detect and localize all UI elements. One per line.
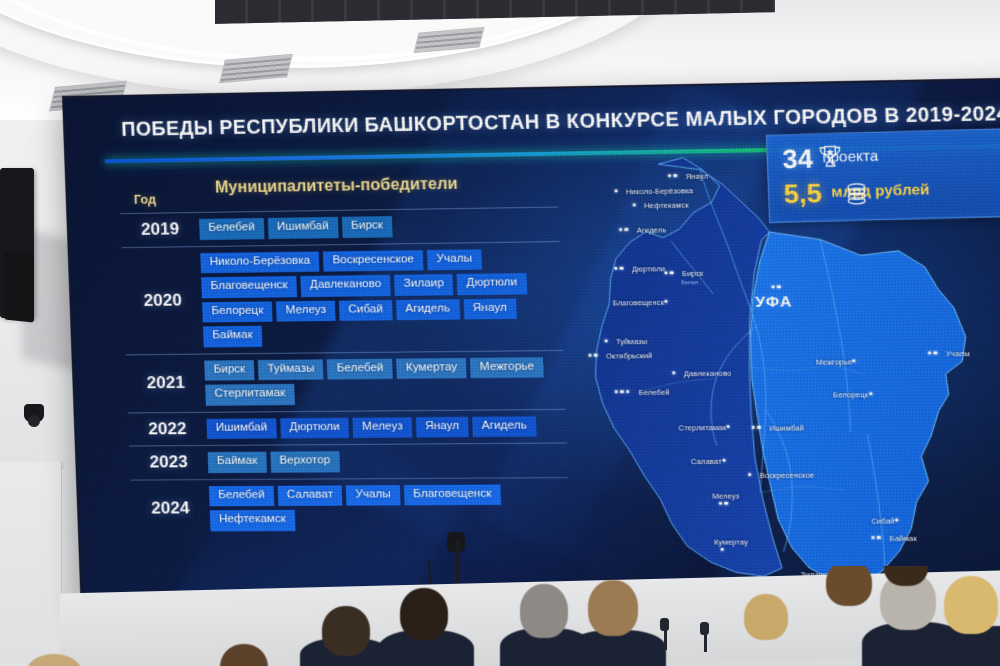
person-head — [944, 576, 998, 634]
map-city-dot — [620, 390, 624, 393]
map-city-dots — [604, 339, 608, 342]
winner-chip-group: БаймакВерхотор — [208, 450, 568, 473]
map-city-dots — [928, 351, 937, 355]
winner-chip: Нефтекамск — [210, 510, 296, 531]
map-city-dot — [871, 536, 875, 539]
winner-chip: Воскресенское — [323, 250, 424, 272]
winner-chip: Мелеуз — [276, 300, 335, 321]
map-city-dots — [664, 300, 668, 304]
winner-chip: Межгорье — [470, 357, 544, 379]
map-city-dot — [664, 271, 668, 275]
map-city-dot — [604, 339, 608, 342]
map-city-dots — [752, 426, 761, 430]
map-city-dot — [726, 425, 730, 428]
winner-chip: Дюртюли — [280, 417, 349, 438]
map-city-dot — [777, 285, 781, 289]
map-city-label: Баймак — [889, 534, 917, 543]
map-city-dot — [670, 271, 674, 275]
winner-chip: Агидель — [396, 299, 460, 320]
map-city-dots — [748, 473, 752, 476]
map-city-dot — [895, 518, 899, 522]
map-city-dot — [588, 354, 592, 357]
map-city-dots — [721, 548, 725, 551]
map-city-dots — [619, 228, 628, 232]
person-head — [744, 594, 788, 640]
winner-chip: Дюртюли — [457, 273, 527, 295]
map-city-dot — [633, 203, 637, 207]
map-city-dots — [722, 459, 726, 462]
map-city-dots — [614, 189, 618, 193]
column-header-municipalities: Муниципалитеты-победители — [215, 176, 458, 198]
winner-chip-group: Николо-БерёзовкаВоскресенскоеУчалыБлагов… — [200, 248, 563, 347]
map-city-dots — [588, 354, 597, 358]
map-city-dots — [871, 536, 880, 540]
winner-chip-group: БелебейСалаватУчалыБлаговещенскНефтекамс… — [209, 484, 570, 531]
person-head — [588, 580, 638, 636]
winner-chip: Агидель — [472, 416, 536, 437]
person-head — [520, 584, 568, 638]
winner-chip: Белорецк — [202, 301, 273, 322]
map-city-dot — [724, 502, 728, 505]
winner-chip: Янаул — [416, 416, 469, 437]
map-river-label: Белая — [681, 280, 698, 286]
map-city-dot — [757, 426, 761, 429]
winner-chip: Бирск — [204, 360, 254, 381]
row-year: 2019 — [121, 219, 200, 240]
winner-chip: Николо-Берёзовка — [200, 251, 319, 273]
map-city-dots — [668, 174, 677, 178]
led-presentation-screen[interactable]: ПОБЕДЫ РЕСПУБЛИКИ БАШКОРТОСТАН В КОНКУРС… — [62, 77, 1000, 606]
map-city-label: Кумертау — [714, 537, 748, 546]
map-city-dot — [934, 351, 938, 355]
map-city-dot — [771, 285, 775, 289]
winner-chip: Сибай — [339, 300, 393, 321]
map-city-dot — [664, 300, 668, 304]
map-city-dot — [721, 548, 725, 551]
map-city-label: Воскресенское — [760, 471, 815, 481]
row-year: 2024 — [131, 498, 210, 518]
map-city-label: Ишимбай — [769, 423, 804, 432]
map-city-dots — [869, 392, 873, 396]
map-city-label: Янаул — [686, 172, 709, 182]
winner-chip: Бирск — [342, 216, 393, 237]
winners-table: Год Муниципалитеты-победители 2019Белебе… — [119, 172, 570, 537]
column-header-year: Год — [134, 193, 156, 207]
map-capital-label: УФА — [755, 293, 793, 311]
table-row: 2023БаймакВерхотор — [129, 442, 568, 479]
map-city-label: Сибай — [871, 516, 895, 525]
map-city-dots — [719, 502, 728, 506]
map-city-dot — [614, 267, 618, 271]
map-city-dots — [726, 425, 730, 428]
map-city-dot — [674, 174, 678, 178]
map-city-dot — [614, 189, 618, 193]
desk-microphone-stem — [664, 628, 667, 650]
map-city-label: Давлеканово — [684, 369, 732, 379]
map-city-label: Дюртюли — [632, 264, 666, 274]
line-array-speaker-lower — [4, 251, 34, 322]
winner-chip: Баймак — [203, 326, 262, 347]
map-city-dot — [672, 371, 676, 374]
table-row: 2020Николо-БерёзовкаВоскресенскоеУчалыБл… — [122, 241, 564, 354]
map-city-label: Нефтекамск — [644, 200, 689, 210]
winner-chip: Баймак — [208, 452, 267, 473]
winner-chip: Зилаир — [394, 274, 453, 295]
map-city-dot — [877, 536, 881, 540]
bashkortostan-map: ЯнаулНиколо-БерёзовкаНефтекамскАгидельДю… — [543, 133, 1000, 589]
map-city-label: Николо-Берёзовка — [626, 186, 694, 196]
map-city-label: Салават — [691, 457, 722, 466]
security-camera-icon — [24, 404, 44, 422]
winner-chip-group: ИшимбайДюртюлиМелеузЯнаулАгидель — [206, 416, 566, 439]
winner-chip: Кумертау — [396, 357, 466, 378]
map-city-dots — [771, 285, 780, 289]
presentation-room-photo: ПОБЕДЫ РЕСПУБЛИКИ БАШКОРТОСТАН В КОНКУРС… — [0, 0, 1000, 666]
map-city-dot — [928, 351, 932, 355]
winner-chip-group: БирскТуймазыБелебейКумертауМежгорьеСтерл… — [204, 357, 565, 406]
stat-money-row: 5,5 млрд рублей — [783, 177, 930, 207]
trophy-icon — [782, 143, 879, 172]
winner-chip: Ишимбай — [206, 418, 276, 439]
table-body: 2019БелебейИшимбайБирск2020Николо-Берёзо… — [120, 207, 570, 538]
winner-chip: Белебей — [209, 485, 274, 506]
row-year: 2020 — [123, 290, 202, 311]
row-year: 2022 — [128, 419, 207, 440]
winner-chip: Белебей — [199, 218, 264, 240]
coins-icon — [783, 177, 930, 207]
map-city-label: Туймазы — [616, 337, 648, 347]
map-city-dot — [626, 390, 630, 393]
map-city-dots — [615, 390, 630, 394]
map-city-label: Агидель — [637, 225, 667, 235]
winner-chip: Туймазы — [258, 359, 324, 380]
winner-chip: Ишимбай — [268, 217, 339, 239]
map-city-label: Стерлитамак — [678, 423, 726, 433]
stats-badge: 34 проекта 5,5 млрд рублей — [766, 128, 1000, 223]
map-city-dot — [668, 174, 672, 178]
winner-chip: Учалы — [427, 249, 482, 270]
winner-chip: Благовещенск — [201, 276, 297, 298]
map-city-label: Мелеуз — [712, 491, 739, 500]
map-city-dots — [614, 267, 623, 271]
desk-microphone-stem — [704, 632, 707, 652]
winner-chip-group: БелебейИшимбайБирск — [199, 214, 559, 240]
map-city-dot — [619, 228, 623, 232]
winner-chip: Мелеуз — [353, 417, 413, 438]
winner-chip: Стерлитамак — [205, 384, 295, 405]
map-city-dots — [664, 271, 673, 275]
winner-chip: Учалы — [346, 485, 401, 506]
map-region-east — [746, 229, 975, 584]
map-city-label: Белорецк — [833, 390, 868, 400]
row-year: 2021 — [126, 373, 205, 394]
row-year: 2023 — [129, 452, 208, 473]
map-city-dot — [869, 392, 873, 396]
map-city-dot — [719, 502, 723, 505]
audience — [0, 566, 1000, 666]
map-city-dot — [748, 473, 752, 476]
winner-chip: Янаул — [463, 298, 516, 319]
map-city-label: Октябрьский — [606, 351, 652, 361]
slide-canvas: ПОБЕДЫ РЕСПУБЛИКИ БАШКОРТОСТАН В КОНКУРС… — [62, 77, 1000, 606]
map-city-label: Благовещенск — [612, 298, 664, 308]
person-head — [400, 588, 448, 640]
map-city-label: Учалы — [946, 349, 970, 359]
map-city-dots — [852, 359, 856, 363]
winner-chip: Салават — [277, 485, 342, 506]
map-city-dot — [752, 426, 756, 429]
winner-chip: Давлеканово — [300, 275, 390, 297]
person-head — [826, 566, 872, 606]
map-city-label: Белебей — [638, 388, 669, 397]
map-city-dot — [620, 267, 624, 271]
winner-chip: Верхотор — [270, 451, 340, 472]
table-row: 2022ИшимбайДюртюлиМелеузЯнаулАгидель — [128, 408, 567, 445]
winner-chip: Благовещенск — [404, 484, 501, 505]
table-row: 2021БирскТуймазыБелебейКумертауМежгорьеС… — [126, 349, 566, 412]
stat-projects-row: 34 проекта — [782, 143, 879, 172]
map-city-label: Бирск — [682, 269, 703, 278]
table-row: 2024БелебейСалаватУчалыБлаговещенскНефте… — [130, 477, 570, 538]
map-city-dot — [852, 359, 856, 363]
map-city-dot — [615, 390, 619, 393]
map-city-dot — [625, 228, 629, 232]
map-city-label: Межгорье — [816, 357, 852, 367]
person-head — [322, 606, 370, 656]
map-city-dot — [594, 354, 598, 357]
map-city-dots — [895, 518, 899, 522]
winner-chip: Белебей — [327, 358, 393, 379]
map-city-dots — [672, 371, 676, 374]
map-city-dots — [633, 203, 637, 207]
map-city-dot — [722, 459, 726, 462]
